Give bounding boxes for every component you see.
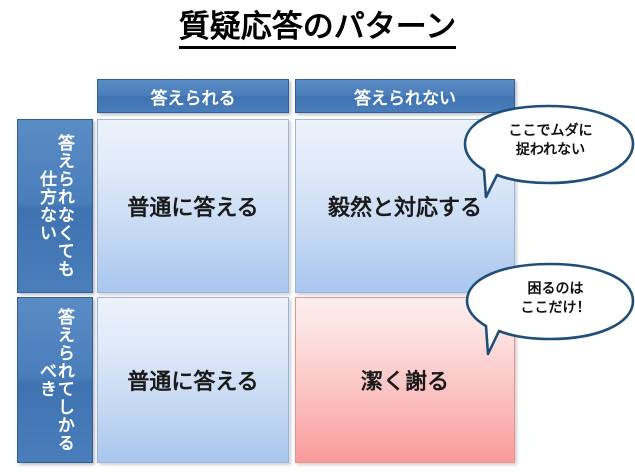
row-header-label: 答えられてしかるべき [37,305,73,455]
callout-bubble-text: 困るのは ここだけ！ [458,279,635,317]
column-header-answerable: 答えられる [97,79,289,113]
callout-bubble-top: ここでムダに 捉われない [452,104,635,200]
row-header-excusable: 答えられなくても仕方ない [17,119,93,293]
callout-bubble-text: ここでムダに 捉われない [452,121,635,159]
row-header-should-answer: 答えられてしかるべき [17,297,93,463]
column-header-label: 答えられない [354,84,456,109]
matrix-cell-label: 普通に答える [127,364,258,396]
column-header-label: 答えられる [151,84,236,109]
matrix-cell-label: 普通に答える [127,190,258,222]
matrix-cell-top-left: 普通に答える [97,119,289,293]
row-header-label: 答えられなくても仕方ない [37,131,73,281]
page-title-text: 質疑応答のパターン [179,9,456,49]
page-title: 質疑応答のパターン [0,8,635,46]
matrix-cell-bottom-left: 普通に答える [97,297,289,463]
callout-bubble-bottom: 困るのは ここだけ！ [458,262,635,356]
matrix-cell-label: 潔く謝る [361,364,449,396]
